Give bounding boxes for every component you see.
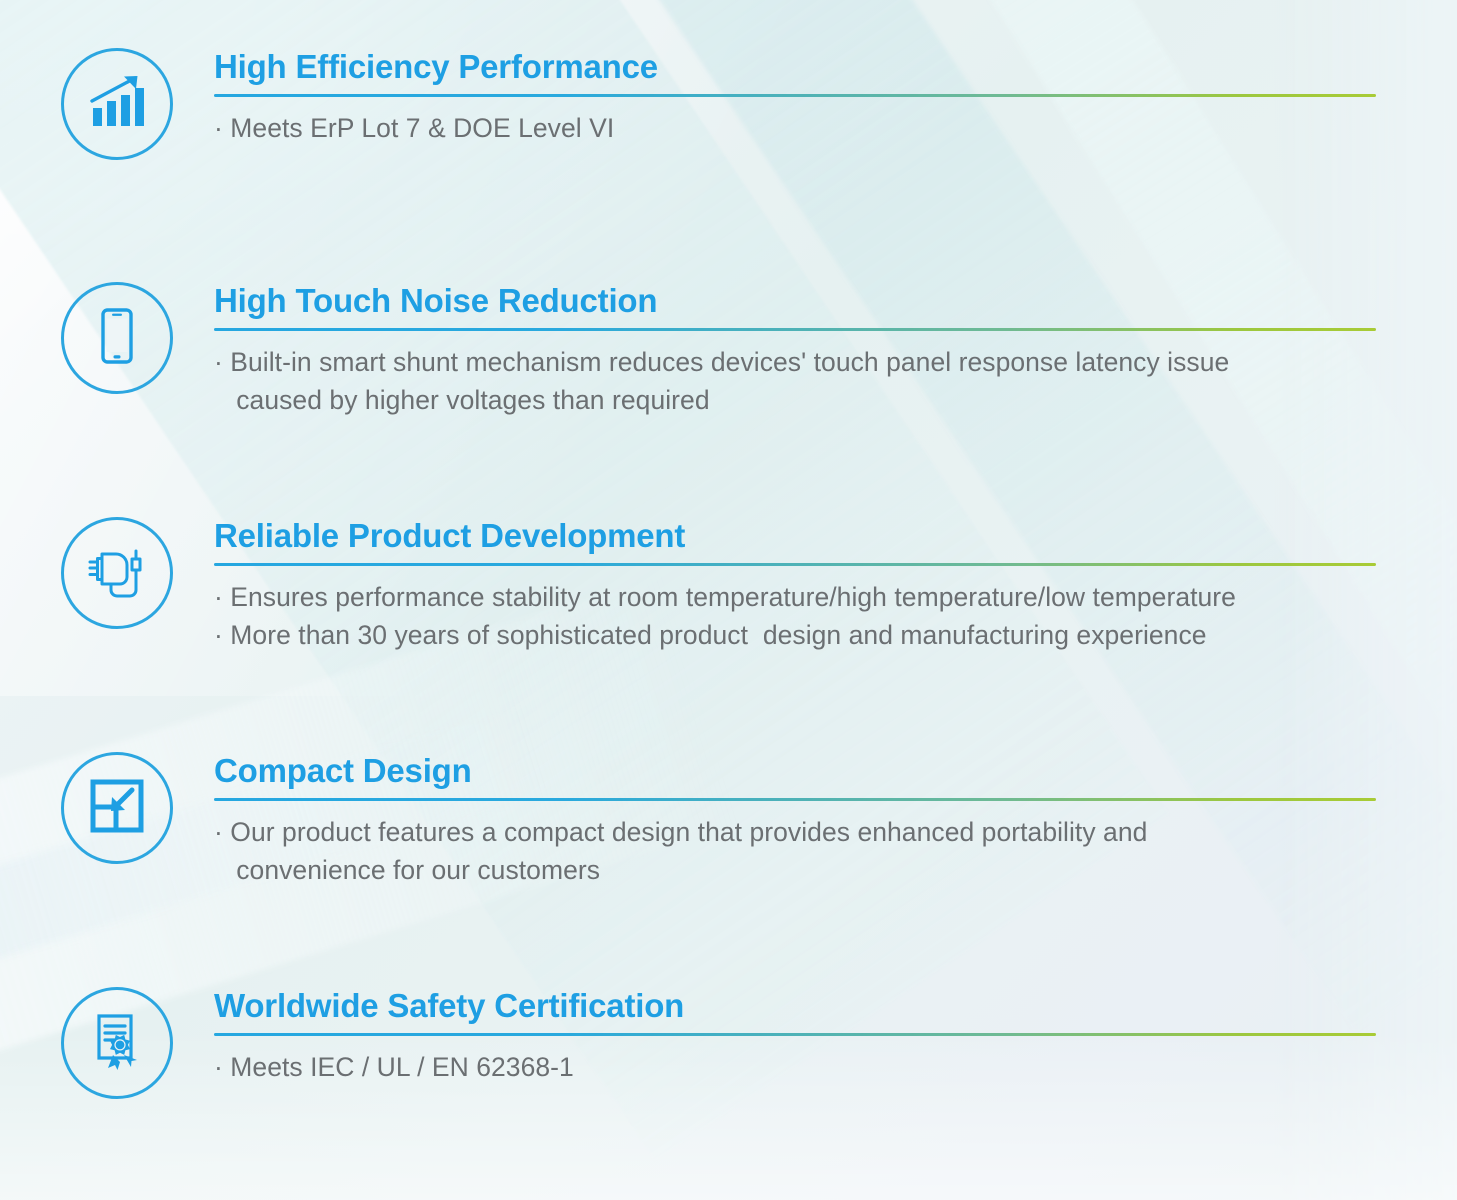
feature-divider bbox=[214, 563, 1376, 566]
feature-title: High Efficiency Performance bbox=[214, 48, 1378, 86]
feature-bullets: · Meets ErP Lot 7 & DOE Level VI bbox=[214, 110, 1378, 148]
feature-divider bbox=[214, 94, 1376, 97]
feature-title: Compact Design bbox=[214, 752, 1378, 790]
feature-bullets: · Our product features a compact design … bbox=[214, 814, 1378, 889]
feature-bullet: · More than 30 years of sophisticated pr… bbox=[214, 617, 1378, 655]
feature-bullets: · Built-in smart shunt mechanism reduces… bbox=[214, 344, 1378, 419]
feature-list: High Efficiency Performance · Meets ErP … bbox=[0, 0, 1457, 1200]
feature-icon-wrapper bbox=[57, 278, 177, 398]
feature-text-block: High Touch Noise Reduction · Built-in sm… bbox=[214, 278, 1378, 420]
feature-icon-wrapper bbox=[57, 513, 177, 633]
feature-title: Reliable Product Development bbox=[214, 517, 1378, 555]
feature-title: High Touch Noise Reduction bbox=[214, 282, 1378, 320]
smartphone-icon bbox=[86, 305, 148, 372]
feature-bullets: · Meets IEC / UL / EN 62368-1 bbox=[214, 1049, 1378, 1087]
feature-bullet: · Our product features a compact design … bbox=[214, 814, 1378, 889]
feature-text-block: Compact Design · Our product features a … bbox=[214, 748, 1378, 890]
feature-item-high-touch-noise-reduction: High Touch Noise Reduction · Built-in sm… bbox=[0, 278, 1457, 420]
growth-bar-chart-icon bbox=[85, 70, 149, 139]
feature-icon-wrapper bbox=[57, 44, 177, 164]
certificate-seal-icon bbox=[86, 1010, 148, 1077]
feature-divider bbox=[214, 328, 1376, 331]
feature-divider bbox=[214, 798, 1376, 801]
feature-title: Worldwide Safety Certification bbox=[214, 987, 1378, 1025]
power-adapter-icon bbox=[83, 537, 151, 610]
icon-circle-frame bbox=[61, 48, 173, 160]
feature-item-compact-design: Compact Design · Our product features a … bbox=[0, 748, 1457, 890]
feature-text-block: High Efficiency Performance · Meets ErP … bbox=[214, 44, 1378, 148]
feature-item-reliable-product-development: Reliable Product Development · Ensures p… bbox=[0, 513, 1457, 655]
feature-item-worldwide-safety-certification: Worldwide Safety Certification · Meets I… bbox=[0, 983, 1457, 1103]
feature-item-high-efficiency-performance: High Efficiency Performance · Meets ErP … bbox=[0, 44, 1457, 164]
compact-resize-icon bbox=[87, 776, 147, 841]
icon-circle-frame bbox=[61, 517, 173, 629]
feature-divider bbox=[214, 1033, 1376, 1036]
icon-circle-frame bbox=[61, 282, 173, 394]
feature-icon-wrapper bbox=[57, 748, 177, 868]
icon-circle-frame bbox=[61, 987, 173, 1099]
feature-text-block: Worldwide Safety Certification · Meets I… bbox=[214, 983, 1378, 1087]
feature-bullet: · Meets ErP Lot 7 & DOE Level VI bbox=[214, 110, 1378, 148]
feature-bullet: · Meets IEC / UL / EN 62368-1 bbox=[214, 1049, 1378, 1087]
feature-bullet: · Built-in smart shunt mechanism reduces… bbox=[214, 344, 1378, 419]
feature-icon-wrapper bbox=[57, 983, 177, 1103]
feature-bullet: · Ensures performance stability at room … bbox=[214, 579, 1378, 617]
feature-bullets: · Ensures performance stability at room … bbox=[214, 579, 1378, 654]
feature-text-block: Reliable Product Development · Ensures p… bbox=[214, 513, 1378, 655]
icon-circle-frame bbox=[61, 752, 173, 864]
